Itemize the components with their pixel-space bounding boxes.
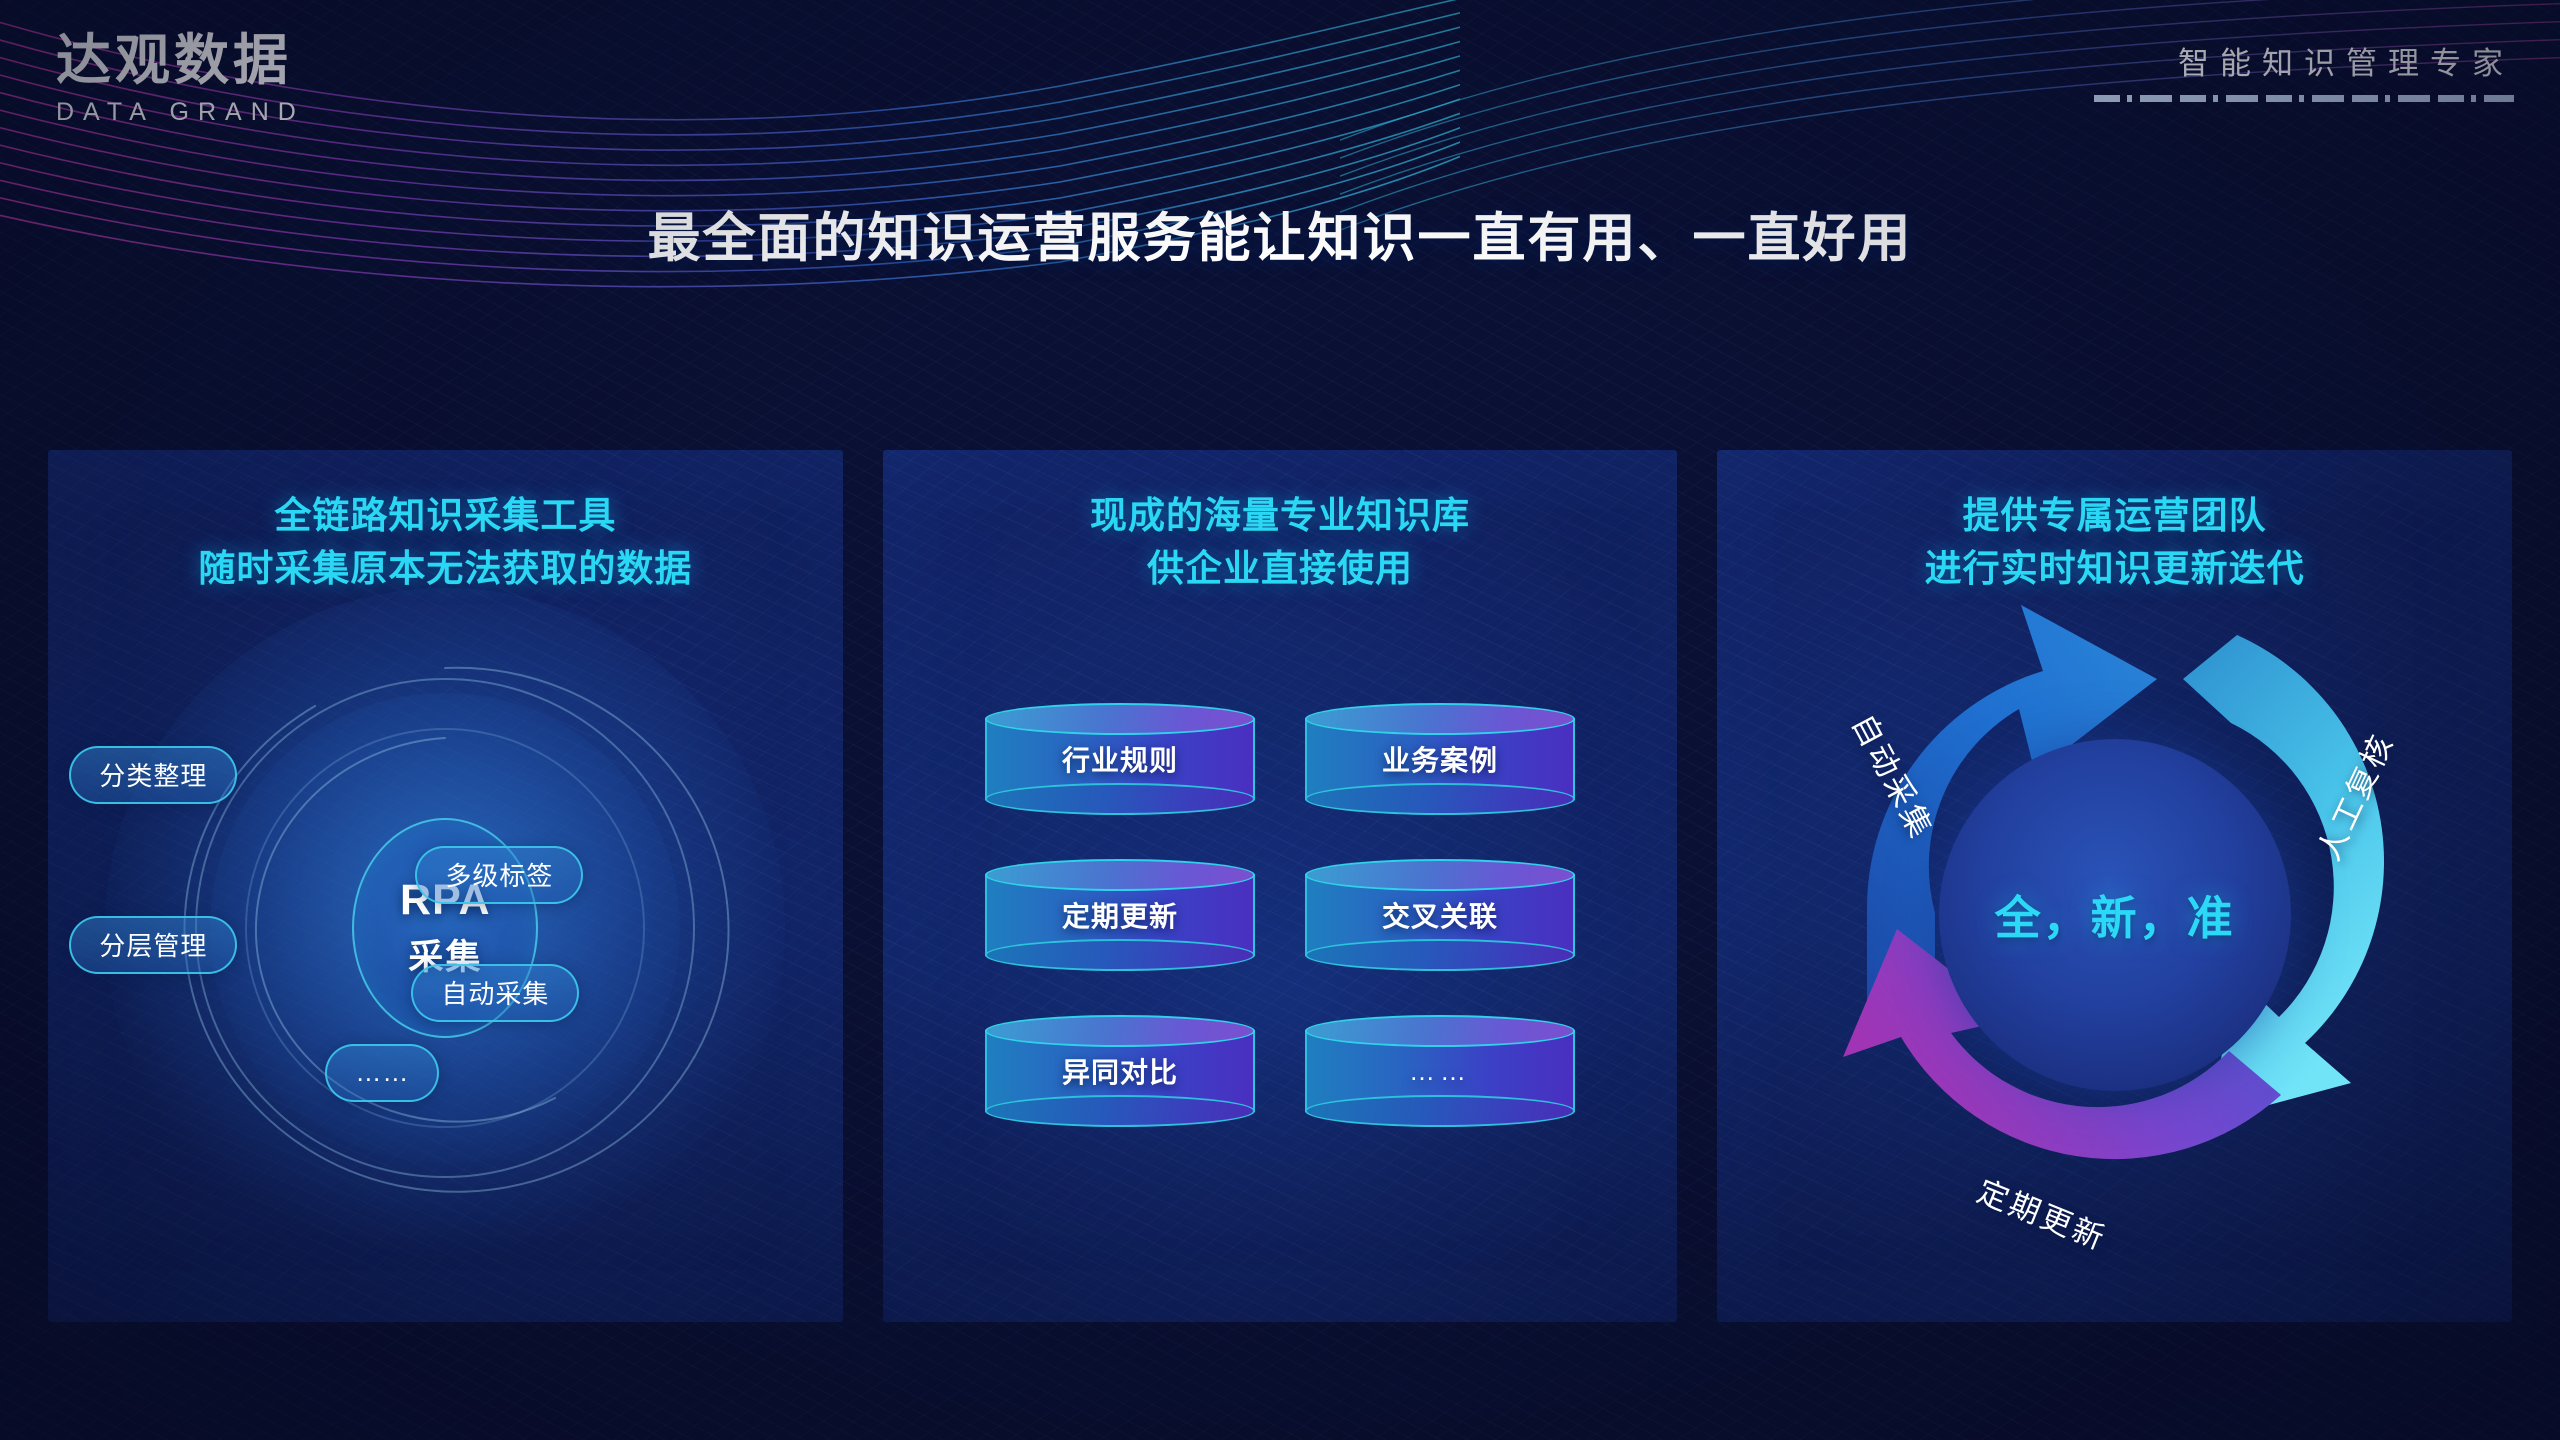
cylinder-label: …… xyxy=(1305,1015,1575,1127)
card-row: 全链路知识采集工具 随时采集原本无法获取的数据 xyxy=(48,450,2512,1322)
cycle-center-node: 全，新，准 xyxy=(1939,739,2291,1091)
cylinder-label: 业务案例 xyxy=(1305,703,1575,815)
cylinder-cell: 业务案例 xyxy=(1290,703,1590,815)
cycle-arrow-diagram: 全，新，准 自动采集 人工复核 定期更新 xyxy=(1785,585,2445,1245)
database-cylinder-6[interactable]: …… xyxy=(1305,1015,1575,1127)
card-1-heading-line2: 随时采集原本无法获取的数据 xyxy=(48,543,843,596)
card-2-heading-line1: 现成的海量专业知识库 xyxy=(883,490,1678,543)
logo-text-english: DATA GRAND xyxy=(56,98,476,127)
tagline-text: 智能知识管理专家 xyxy=(2094,38,2514,83)
rpa-radial-diagram: RPA 采集 分类整理 多级标签 分层管理 自动采集 …… xyxy=(85,578,805,1278)
tagline-block: 智能知识管理专家 xyxy=(2094,38,2514,102)
database-cylinder-3[interactable]: 定期更新 xyxy=(985,859,1255,971)
cylinder-cell: …… xyxy=(1290,1015,1590,1127)
card-2-body: 行业规则 业务案例 xyxy=(883,595,1678,1235)
cylinder-cell: 定期更新 xyxy=(970,859,1270,971)
pill-node-3[interactable]: 分层管理 xyxy=(69,916,237,974)
database-cylinder-2[interactable]: 业务案例 xyxy=(1305,703,1575,815)
database-cylinder-5[interactable]: 异同对比 xyxy=(985,1015,1255,1127)
card-2-heading-line2: 供企业直接使用 xyxy=(883,543,1678,596)
cylinder-cell: 异同对比 xyxy=(970,1015,1270,1127)
tagline-dashed-rule xyxy=(2094,95,2514,102)
card-3-heading-line2: 进行实时知识更新迭代 xyxy=(1717,543,2512,596)
card-3-heading-line1: 提供专属运营团队 xyxy=(1717,490,2512,543)
logo-text-chinese: 达观数据 xyxy=(56,30,476,92)
card-3-heading: 提供专属运营团队 进行实时知识更新迭代 xyxy=(1717,450,2512,595)
pill-node-4[interactable]: 自动采集 xyxy=(411,964,579,1022)
card-1-heading-line1: 全链路知识采集工具 xyxy=(48,490,843,543)
cylinder-cell: 交叉关联 xyxy=(1290,859,1590,971)
database-cylinder-1[interactable]: 行业规则 xyxy=(985,703,1255,815)
card-1-body: RPA 采集 分类整理 多级标签 分层管理 自动采集 …… xyxy=(48,595,843,1235)
database-cylinder-4[interactable]: 交叉关联 xyxy=(1305,859,1575,971)
cylinder-label: 异同对比 xyxy=(985,1015,1255,1127)
card-operations-team: 提供专属运营团队 进行实时知识更新迭代 xyxy=(1717,450,2512,1322)
pill-node-1[interactable]: 分类整理 xyxy=(69,746,237,804)
card-2-heading: 现成的海量专业知识库 供企业直接使用 xyxy=(883,450,1678,595)
brand-logo: 达观数据 DATA GRAND xyxy=(56,30,476,127)
cylinder-label: 交叉关联 xyxy=(1305,859,1575,971)
card-knowledge-collection: 全链路知识采集工具 随时采集原本无法获取的数据 xyxy=(48,450,843,1322)
page-title: 最全面的知识运营服务能让知识一直有用、一直好用 xyxy=(0,196,2560,272)
cylinder-label: 行业规则 xyxy=(985,703,1255,815)
pill-node-5[interactable]: …… xyxy=(325,1044,439,1102)
card-knowledge-base: 现成的海量专业知识库 供企业直接使用 行业规则 xyxy=(883,450,1678,1322)
cylinder-cell: 行业规则 xyxy=(970,703,1270,815)
slide-canvas: 达观数据 DATA GRAND 智能知识管理专家 最全面的知识运营服务能让知识一… xyxy=(0,0,2560,1440)
card-3-body: 全，新，准 自动采集 人工复核 定期更新 xyxy=(1717,595,2512,1235)
card-1-heading: 全链路知识采集工具 随时采集原本无法获取的数据 xyxy=(48,450,843,595)
cycle-center-label: 全，新，准 xyxy=(1995,882,2235,948)
database-cylinder-grid: 行业规则 业务案例 xyxy=(970,703,1590,1127)
pill-node-2[interactable]: 多级标签 xyxy=(415,846,583,904)
cylinder-label: 定期更新 xyxy=(985,859,1255,971)
